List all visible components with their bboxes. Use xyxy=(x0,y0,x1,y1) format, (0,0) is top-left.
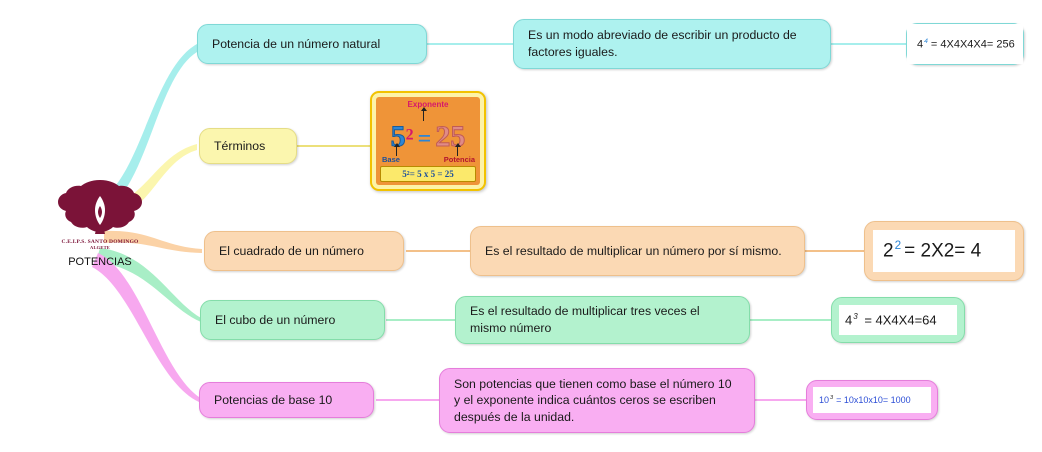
illustration-exponente-base-potencia[interactable]: Exponente 52 = 25 Base Potencia 52 = 5 x… xyxy=(370,91,486,191)
illustration-label-base: Base xyxy=(382,155,400,164)
example-base: 10 xyxy=(819,395,829,405)
example-el-cuadrado-de-un-numero[interactable]: 22= 2X2= 4 xyxy=(864,221,1024,281)
logo-caption-town: ALGETE xyxy=(30,245,170,250)
topic-potencias-de-base-10[interactable]: Potencias de base 10 xyxy=(199,382,374,418)
example-rest: = 4X4X4X4= 256 xyxy=(931,38,1015,50)
topic-label: El cubo de un número xyxy=(215,312,335,329)
topic-potencia-de-un-numero-natural[interactable]: Potencia de un número natural xyxy=(197,24,427,64)
illustration-label-exponente: Exponente xyxy=(376,100,480,109)
example-exponent: 4 xyxy=(923,38,931,45)
topic-label: Potencia de un número natural xyxy=(212,36,380,53)
illustration-exponent: 2 xyxy=(406,127,414,144)
description-text: Es el resultado de multiplicar tres vece… xyxy=(470,303,735,336)
example-formula: 43 = 4X4X4=64 xyxy=(845,312,937,327)
illustration-equals: = xyxy=(418,126,432,152)
illustration-equation: 52 = 25 xyxy=(376,120,480,154)
santo-domingo-tree-logo xyxy=(52,176,148,238)
topic-label: Términos xyxy=(214,138,265,155)
example-potencia-de-un-numero-natural[interactable]: 44= 4X4X4X4= 256 xyxy=(906,23,1024,65)
link-base-10 xyxy=(92,253,199,402)
description-potencia-de-un-numero-natural[interactable]: Es un modo abreviado de escribir un prod… xyxy=(513,19,831,69)
topic-label: Potencias de base 10 xyxy=(214,392,332,409)
example-formula: 103= 10x10x10= 1000 xyxy=(819,395,911,405)
description-el-cubo-de-un-numero[interactable]: Es el resultado de multiplicar tres vece… xyxy=(455,296,750,344)
description-potencias-de-base-10[interactable]: Son potencias que tienen como base el nú… xyxy=(439,368,755,433)
illustration-base: 5 xyxy=(391,120,406,153)
example-rest: = 10x10x10= 1000 xyxy=(836,395,911,405)
illustration-result: 25 xyxy=(435,120,465,153)
example-rest: = 4X4X4=64 xyxy=(861,313,937,328)
description-text: Es un modo abreviado de escribir un prod… xyxy=(528,27,816,60)
topic-el-cuadrado-de-un-numero[interactable]: El cuadrado de un número xyxy=(204,231,404,271)
description-el-cuadrado-de-un-numero[interactable]: Es el resultado de multiplicar un número… xyxy=(470,226,805,276)
example-formula: 44= 4X4X4X4= 256 xyxy=(917,38,1015,51)
example-rest: = 2X2= 4 xyxy=(904,241,981,262)
illustration-strip-equation: 52 = 5 x 5 = 25 xyxy=(380,166,476,182)
mindmap-root[interactable]: C.E.I.P.S. SANTO DOMINGO ALGETE POTENCIA… xyxy=(30,176,170,268)
example-base: 2 xyxy=(883,241,894,262)
description-text: Son potencias que tienen como base el nú… xyxy=(454,376,740,426)
mindmap-canvas: C.E.I.P.S. SANTO DOMINGO ALGETE POTENCIA… xyxy=(0,0,1042,452)
illustration-label-potencia: Potencia xyxy=(444,155,475,164)
topic-terminos[interactable]: Términos xyxy=(199,128,297,164)
root-label: POTENCIAS xyxy=(30,256,170,268)
description-text: Es el resultado de multiplicar un número… xyxy=(485,243,782,260)
example-formula: 22= 2X2= 4 xyxy=(883,239,981,262)
example-potencias-de-base-10[interactable]: 103= 10x10x10= 1000 xyxy=(806,380,938,420)
example-el-cubo-de-un-numero[interactable]: 43 = 4X4X4=64 xyxy=(831,297,965,343)
example-exponent: 3 xyxy=(852,312,860,321)
topic-el-cubo-de-un-numero[interactable]: El cubo de un número xyxy=(200,300,385,340)
example-exponent: 2 xyxy=(894,239,905,252)
topic-label: El cuadrado de un número xyxy=(219,243,364,260)
strip-rest: = 5 x 5 = 25 xyxy=(410,169,454,179)
